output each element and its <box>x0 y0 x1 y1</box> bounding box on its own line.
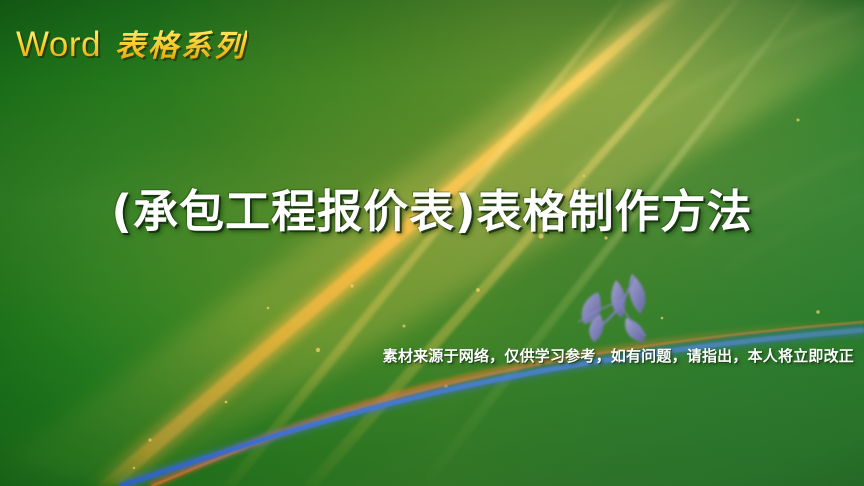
background-light-streaks <box>0 0 864 486</box>
slide-canvas: Word 表格系列 (承包工程报价表)表格制作方法 素材来源于网络，仅供学习参考… <box>0 0 864 486</box>
background-blue-curve <box>0 0 864 486</box>
background-vertical-shade <box>0 0 864 486</box>
background-warm-glow <box>0 0 864 486</box>
background-base-gradient <box>0 0 864 486</box>
purple-leaf-sprig-icon <box>0 0 864 486</box>
slide-disclaimer: 素材来源于网络，仅供学习参考，如有问题，请指出，本人将立即改正 <box>383 345 854 366</box>
logo-word-mark: Word <box>16 25 101 65</box>
background-vignette <box>0 0 864 486</box>
brand-logo: Word 表格系列 <box>16 21 247 65</box>
slide-title: (承包工程报价表)表格制作方法 <box>0 175 864 240</box>
logo-series-label: 表格系列 <box>115 21 247 65</box>
